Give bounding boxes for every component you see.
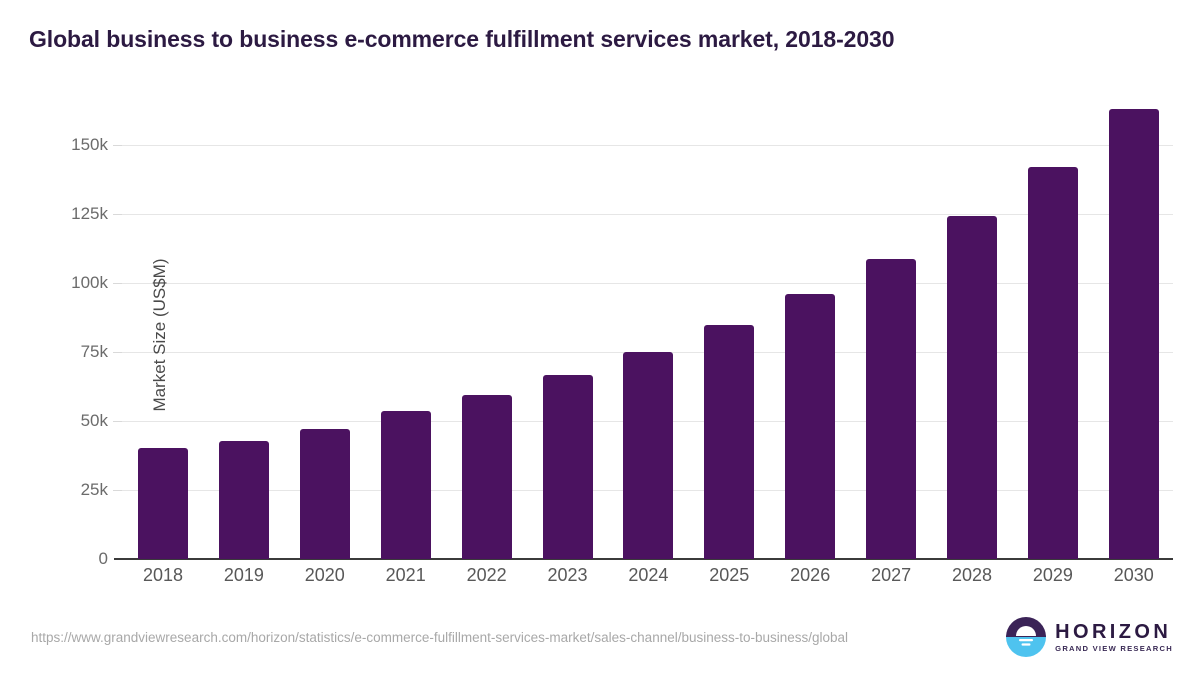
y-axis-tick-label: 150k <box>0 135 108 155</box>
brand-logo: HORIZON GRAND VIEW RESEARCH <box>1006 617 1173 657</box>
x-axis-label-2021: 2021 <box>366 565 446 586</box>
bar-2030[interactable] <box>1109 109 1159 559</box>
bar-series <box>122 110 1173 559</box>
x-axis-label-2029: 2029 <box>1013 565 1093 586</box>
plot-area: Market Size (US$M) <box>122 110 1173 559</box>
x-axis-label-2027: 2027 <box>851 565 931 586</box>
y-axis-tick-label: 100k <box>0 273 108 293</box>
y-axis-tick-label: 0 <box>0 549 108 569</box>
x-axis-label-2022: 2022 <box>447 565 527 586</box>
x-axis-label-2026: 2026 <box>770 565 850 586</box>
y-axis-tick-mark <box>113 490 122 491</box>
bar-2025[interactable] <box>704 325 754 559</box>
logo-tagline: GRAND VIEW RESEARCH <box>1055 645 1173 653</box>
x-axis-label-2030: 2030 <box>1094 565 1174 586</box>
y-axis-tick-mark <box>113 145 122 146</box>
logo-text: HORIZON GRAND VIEW RESEARCH <box>1055 622 1173 653</box>
x-axis-tick-labels: 2018201920202021202220232024202520262027… <box>122 565 1173 595</box>
y-axis-tick-mark <box>113 352 122 353</box>
y-axis-tick-label: 50k <box>0 411 108 431</box>
x-axis-label-2020: 2020 <box>285 565 365 586</box>
source-url[interactable]: https://www.grandviewresearch.com/horizo… <box>31 628 936 648</box>
y-axis-title: Market Size (US$M) <box>150 125 170 545</box>
x-axis-label-2028: 2028 <box>932 565 1012 586</box>
y-axis-tick-label: 25k <box>0 480 108 500</box>
horizon-logo-icon <box>1006 617 1046 657</box>
bar-2026[interactable] <box>785 294 835 559</box>
logo-wordmark: HORIZON <box>1055 622 1173 642</box>
bar-2019[interactable] <box>219 441 269 559</box>
page-title: Global business to business e-commerce f… <box>29 26 894 53</box>
bar-2024[interactable] <box>623 352 673 559</box>
y-axis-tick-label: 125k <box>0 204 108 224</box>
x-axis-label-2025: 2025 <box>689 565 769 586</box>
bar-2021[interactable] <box>381 411 431 559</box>
y-axis-tick-mark <box>113 421 122 422</box>
bar-2022[interactable] <box>462 395 512 559</box>
bar-2023[interactable] <box>543 375 593 559</box>
bar-2028[interactable] <box>947 216 997 559</box>
bar-2020[interactable] <box>300 429 350 559</box>
bar-2029[interactable] <box>1028 167 1078 559</box>
x-axis-label-2019: 2019 <box>204 565 284 586</box>
chart-card: Global business to business e-commerce f… <box>0 0 1200 675</box>
y-axis-tick-label: 75k <box>0 342 108 362</box>
bar-2027[interactable] <box>866 259 916 559</box>
x-axis-label-2018: 2018 <box>123 565 203 586</box>
x-axis-label-2023: 2023 <box>528 565 608 586</box>
x-axis-label-2024: 2024 <box>608 565 688 586</box>
y-axis-tick-mark <box>113 283 122 284</box>
y-axis-tick-labels: 025k50k75k100k125k150k <box>0 0 108 675</box>
y-axis-tick-mark <box>113 214 122 215</box>
